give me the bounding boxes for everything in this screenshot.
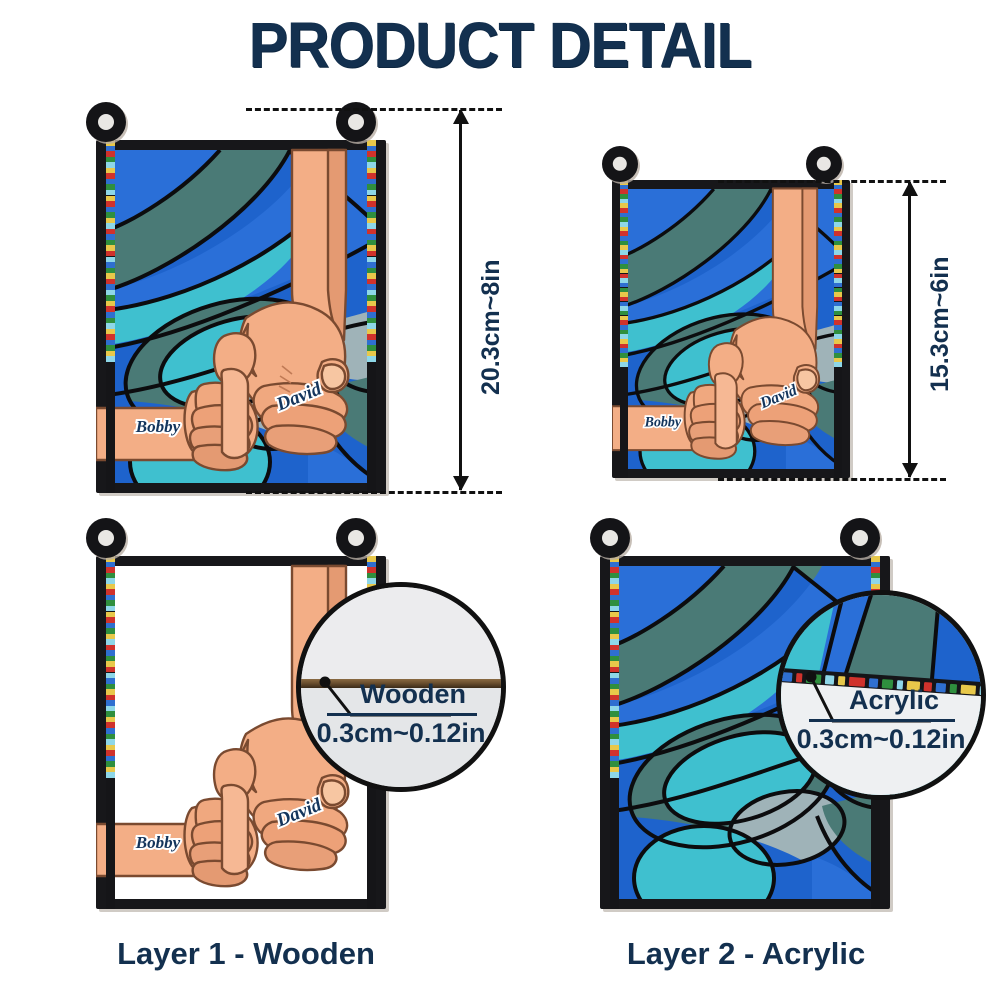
svg-text:Bobby: Bobby bbox=[135, 833, 181, 852]
mosaic-tile bbox=[106, 356, 115, 361]
product-detail-page: PRODUCT DETAIL bbox=[0, 0, 1000, 1000]
mosaic-border-left bbox=[106, 556, 115, 909]
mosaic-tile bbox=[834, 362, 842, 367]
page-title: PRODUCT DETAIL bbox=[40, 8, 960, 82]
mosaic-tile bbox=[620, 362, 628, 367]
name-label-child: Bobby bbox=[644, 414, 682, 430]
dim-arrow-small bbox=[908, 182, 911, 477]
magnifier-acrylic: Acrylic 0.3cm~0.12in bbox=[776, 590, 986, 800]
dim-guide-bottom-small bbox=[718, 478, 946, 481]
hands-illustration: David Bobby bbox=[612, 180, 850, 478]
panel-full-product-large: David Bobby bbox=[96, 140, 386, 493]
grommet-right bbox=[840, 518, 880, 558]
magnifier-rule-wooden bbox=[327, 713, 477, 716]
caption-layer-2: Layer 2 - Acrylic bbox=[596, 936, 896, 972]
magnifier-content-acrylic: Acrylic 0.3cm~0.12in bbox=[781, 595, 981, 795]
magnifier-thickness-wooden: 0.3cm~0.12in bbox=[301, 718, 501, 749]
magnifier-content-wooden: Wooden 0.3cm~0.12in bbox=[301, 587, 501, 787]
grommet-left bbox=[602, 146, 638, 182]
panel-full-product-small: David Bobby bbox=[612, 180, 850, 478]
grommet-right bbox=[806, 146, 842, 182]
mosaic-border-right bbox=[834, 180, 842, 478]
mosaic-tile bbox=[106, 772, 115, 777]
mosaic-border-right bbox=[367, 140, 376, 493]
dim-label-small: 15.3cm~6in bbox=[926, 256, 955, 392]
stained-glass-svg bbox=[108, 150, 374, 483]
dim-guide-bottom-large bbox=[246, 491, 502, 494]
name-label-child: Bobby bbox=[135, 833, 181, 852]
mosaic-tile bbox=[610, 772, 619, 777]
mosaic-border-left bbox=[620, 180, 628, 478]
magnifier-thickness-acrylic: 0.3cm~0.12in bbox=[781, 724, 981, 755]
grommet-right bbox=[336, 518, 376, 558]
magnifier-title-acrylic: Acrylic bbox=[807, 685, 981, 716]
mosaic-tile bbox=[367, 356, 376, 361]
grommet-left bbox=[86, 102, 126, 142]
grommet-left bbox=[86, 518, 126, 558]
magnifier-rule-acrylic bbox=[809, 719, 955, 722]
caption-layer-1: Layer 1 - Wooden bbox=[96, 936, 396, 972]
mosaic-border-left bbox=[106, 140, 115, 493]
svg-text:Bobby: Bobby bbox=[644, 414, 682, 430]
magnifier-wooden: Wooden 0.3cm~0.12in bbox=[296, 582, 506, 792]
magnifier-title-wooden: Wooden bbox=[325, 679, 501, 710]
mosaic-border-left bbox=[610, 556, 619, 909]
dim-label-large: 20.3cm~8in bbox=[477, 259, 506, 395]
stained-glass-artwork bbox=[108, 150, 374, 483]
dim-arrow-large bbox=[459, 110, 462, 490]
grommet-left bbox=[590, 518, 630, 558]
